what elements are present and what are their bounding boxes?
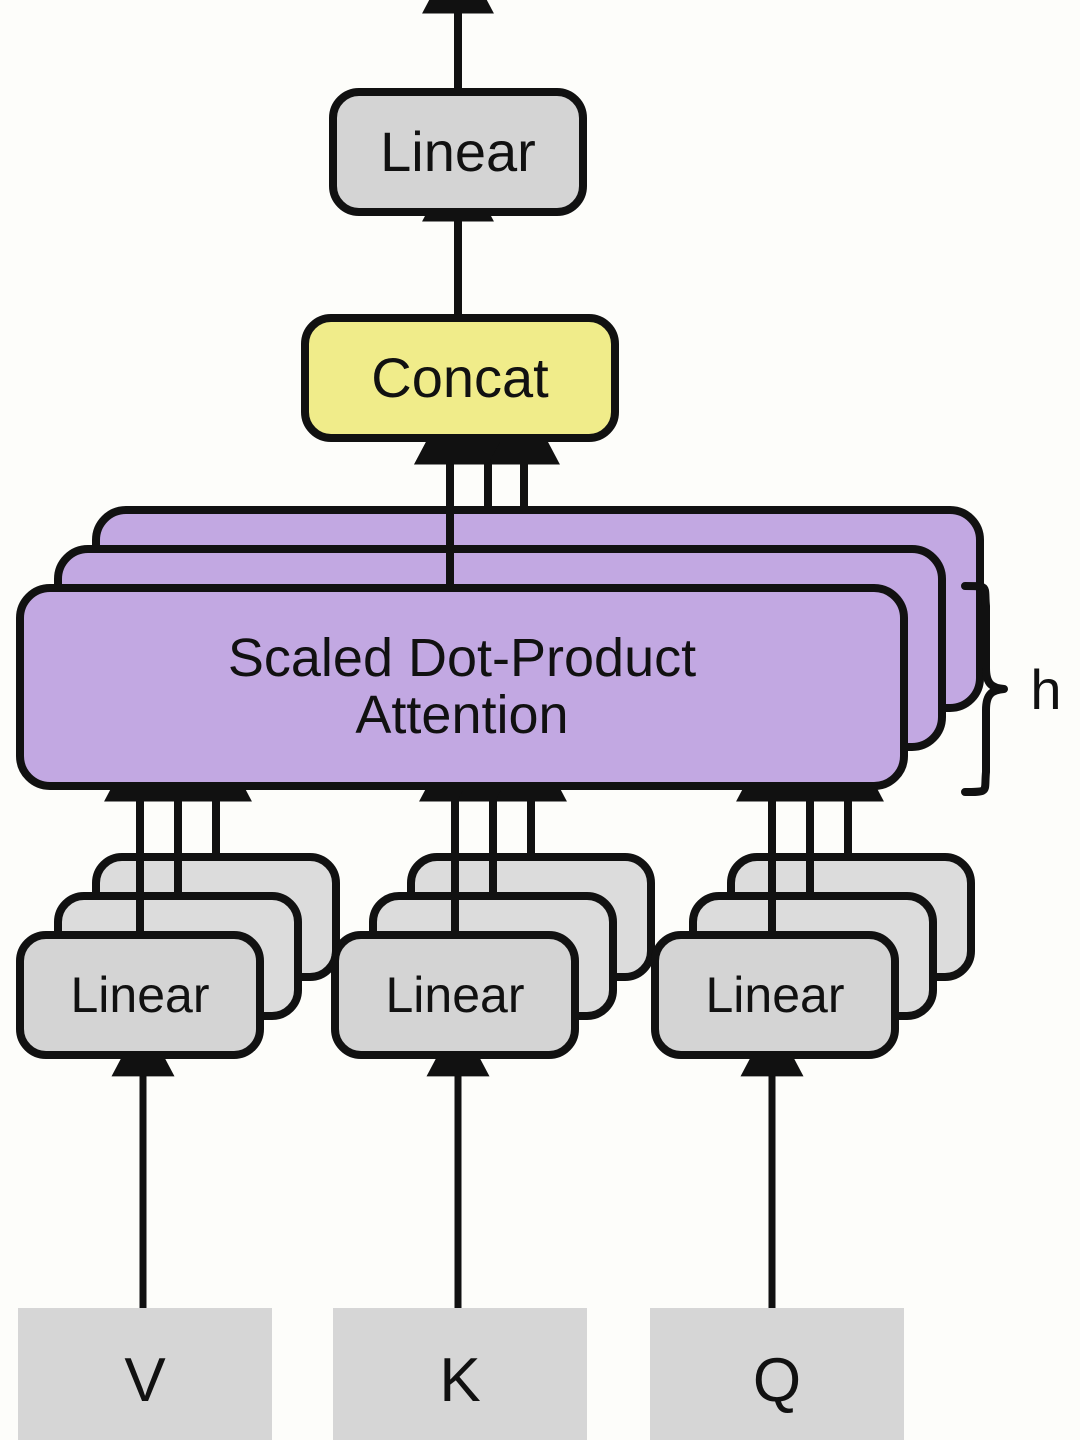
diagram-canvas: V K Q Linear Linear Linear — [0, 0, 1080, 1440]
output-arrow-layer — [0, 0, 1080, 1440]
